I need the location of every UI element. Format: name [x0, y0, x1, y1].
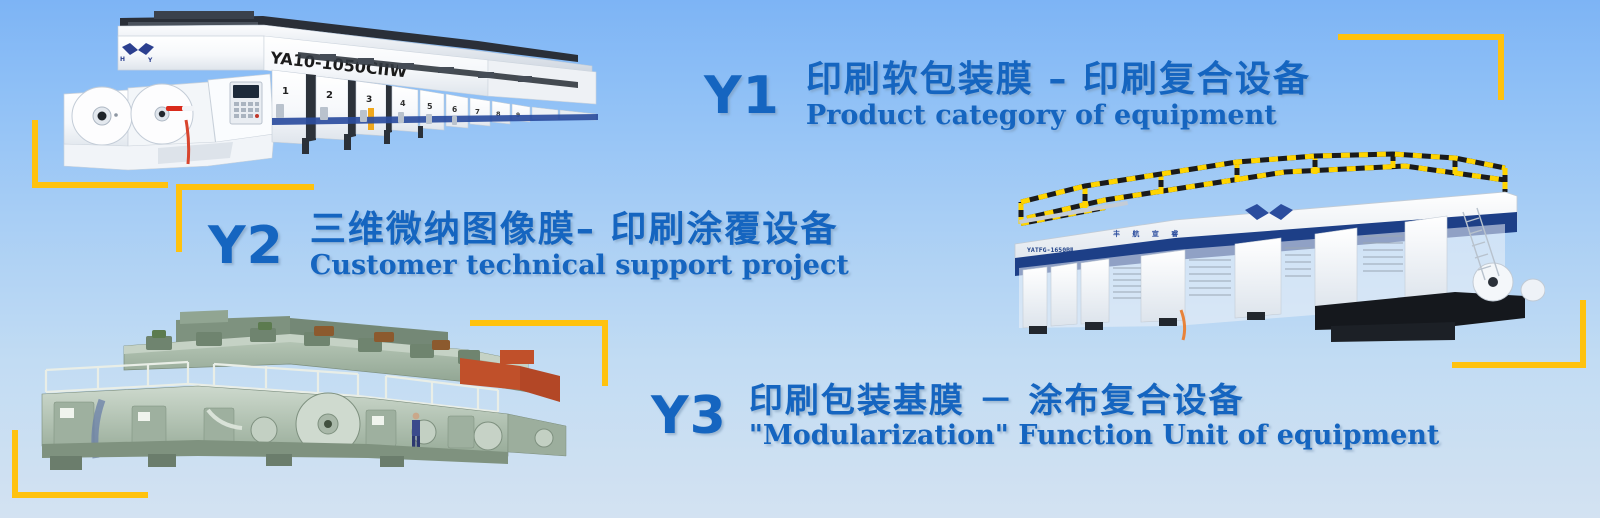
svg-text:3: 3 — [366, 95, 372, 105]
text-row-y1: Y1 印刷软包装膜 – 印刷复合设备 Product category of e… — [704, 60, 1311, 131]
code-label-y2: Y2 — [208, 220, 284, 272]
svg-text:4: 4 — [400, 99, 406, 108]
title-cn-y2: 三维微纳图像膜– 印刷涂覆设备 — [310, 210, 849, 250]
title-en-y2: Customer technical support project — [310, 251, 849, 281]
bracket-y2-horizontal — [176, 184, 314, 190]
svg-text:6: 6 — [452, 105, 457, 114]
title-en-y3: "Modularization" Function Unit of equipm… — [749, 421, 1440, 451]
bracket-y3-vertical — [602, 320, 608, 386]
code-label-y3: Y3 — [651, 390, 727, 442]
bracket-bottomleft-horizontal — [12, 492, 148, 498]
text-row-y3: Y3 印刷包装基膜 － 涂布复合设备 "Modularization" Func… — [651, 382, 1439, 451]
svg-text:1: 1 — [282, 86, 289, 97]
svg-text:H: H — [120, 56, 125, 63]
bracket-topleft-vertical — [32, 120, 38, 188]
bracket-right-vertical — [1580, 300, 1586, 368]
machine-coating-laminating: 丰 航 宣 睿 YATFG-1650BⅡ — [985, 150, 1545, 360]
bracket-topright-horizontal — [1338, 34, 1504, 40]
svg-text:7: 7 — [475, 108, 480, 116]
bracket-y3-horizontal — [470, 320, 608, 326]
machine-paper-coating-line — [28, 306, 573, 486]
titles-y2: 三维微纳图像膜– 印刷涂覆设备 Customer technical suppo… — [310, 210, 849, 281]
title-cn-y3: 印刷包装基膜 － 涂布复合设备 — [749, 382, 1440, 420]
bracket-topleft-horizontal — [32, 182, 168, 188]
svg-text:丰 航 宣 睿: 丰 航 宣 睿 — [1113, 229, 1183, 238]
titles-y1: 印刷软包装膜 – 印刷复合设备 Product category of equi… — [806, 60, 1311, 131]
machine-gravure-printing-press: H Y YA10-1050CIIW — [58, 8, 603, 178]
bracket-bottomleft-vertical — [12, 430, 18, 498]
bracket-y2-vertical — [176, 184, 182, 252]
bracket-topright-vertical — [1498, 34, 1504, 100]
svg-text:Y: Y — [147, 57, 153, 64]
svg-text:YATFG-1650BⅡ: YATFG-1650BⅡ — [1027, 246, 1073, 254]
titles-y3: 印刷包装基膜 － 涂布复合设备 "Modularization" Functio… — [749, 382, 1440, 451]
title-en-y1: Product category of equipment — [806, 101, 1311, 131]
text-row-y2: Y2 三维微纳图像膜– 印刷涂覆设备 Customer technical su… — [208, 210, 849, 281]
bracket-right-horizontal — [1452, 362, 1586, 368]
code-label-y1: Y1 — [704, 70, 780, 122]
title-cn-y1: 印刷软包装膜 – 印刷复合设备 — [806, 60, 1311, 100]
svg-text:5: 5 — [427, 102, 433, 111]
promotional-banner: H Y YA10-1050CIIW — [0, 0, 1600, 518]
svg-text:2: 2 — [326, 90, 333, 101]
